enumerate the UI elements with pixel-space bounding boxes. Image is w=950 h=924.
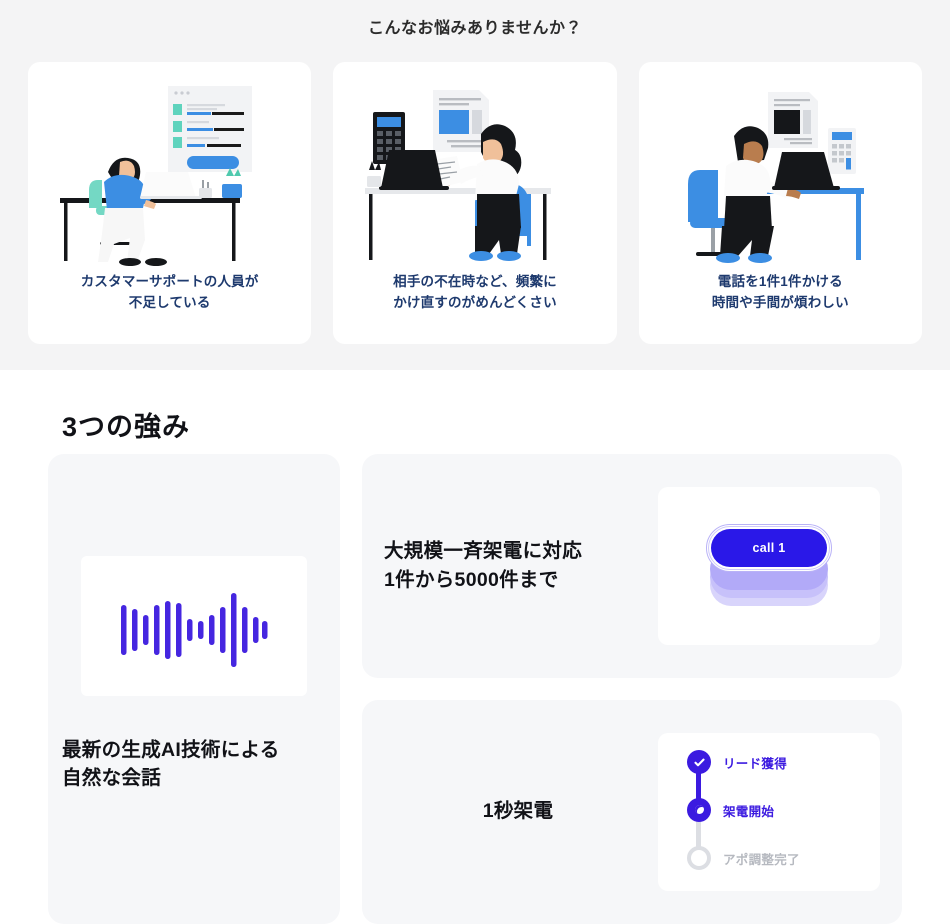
strength-caption-line1: 最新の生成AI技術による: [62, 739, 280, 761]
worry-card-caption: 電話を1件1件かける 時間や手間が煩わしい: [712, 272, 849, 314]
strength-caption-line2: 自然な会話: [62, 767, 161, 789]
check-circle-icon: [687, 750, 711, 774]
worry-card-caption: 相手の不在時など、頻繁に かけ直すのがめんどくさい: [393, 272, 557, 314]
strength-card-text: 1秒架電: [384, 797, 658, 826]
worry-caption-line2: かけ直すのがめんどくさい: [393, 295, 557, 310]
worry-caption-line2: 不足している: [129, 295, 211, 310]
waveform-visual-box: [81, 556, 307, 696]
active-dot-icon: [687, 798, 711, 822]
strength-card-ai-conversation[interactable]: 最新の生成AI技術による 自然な会話: [48, 454, 340, 924]
worry-card[interactable]: 相手の不在時など、頻繁に かけ直すのがめんどくさい: [333, 62, 616, 344]
strength-card-text: 大規模一斉架電に対応 1件から5000件まで: [384, 537, 658, 596]
man-at-blue-desk-with-laptop-icon: [656, 76, 904, 266]
empty-circle-icon: [687, 846, 711, 870]
worry-caption-line1: 相手の不在時など、頻繁に: [393, 274, 557, 289]
woman-at-desk-with-chat-panel-icon: [46, 76, 294, 266]
timeline-step-appointment-scheduled[interactable]: アポ調整完了: [687, 846, 853, 870]
worries-heading: こんなお悩みありませんか？: [0, 18, 950, 48]
audio-waveform-icon: [119, 581, 269, 671]
woman-in-blue-armchair-with-documents-icon: [351, 76, 599, 266]
call-button[interactable]: call 1: [711, 529, 827, 567]
timeline-step-label: 架電開始: [723, 801, 774, 820]
strengths-right-column: 大規模一斉架電に対応 1件から5000件まで call 1: [362, 454, 902, 924]
timeline-step-lead-acquired[interactable]: リード獲得: [687, 750, 853, 774]
timeline-step-label: アポ調整完了: [723, 849, 800, 868]
worries-card-list: カスタマーサポートの人員が 不足している: [0, 48, 950, 344]
worry-caption-line1: 電話を1件1件かける: [718, 274, 843, 289]
strength-card-one-second-dialing[interactable]: 1秒架電 リード獲得: [362, 700, 902, 924]
worry-caption-line1: カスタマーサポートの人員が: [81, 274, 259, 289]
call-button-stack-graphic: call 1: [706, 524, 832, 608]
worry-caption-line2: 時間や手間が煩わしい: [712, 295, 849, 310]
worry-card[interactable]: 電話を1件1件かける 時間や手間が煩わしい: [639, 62, 922, 344]
call-button-visual-box: call 1: [658, 487, 880, 645]
worry-card[interactable]: カスタマーサポートの人員が 不足している: [28, 62, 311, 344]
timeline-visual-box: リード獲得 架電開始 アポ調整完了: [658, 733, 880, 891]
worries-section: こんなお悩みありませんか？: [0, 0, 950, 370]
strength-text-line1: 大規模一斉架電に対応: [384, 540, 582, 562]
strength-text-line2: 1件から5000件まで: [384, 569, 559, 591]
strengths-section: 3つの強み: [0, 370, 950, 924]
worry-card-caption: カスタマーサポートの人員が 不足している: [81, 272, 259, 314]
timeline-step-label: リード獲得: [723, 753, 787, 772]
strengths-heading: 3つの強み: [48, 370, 902, 454]
timeline-step-calling-started[interactable]: 架電開始: [687, 798, 853, 822]
strength-card-mass-calling[interactable]: 大規模一斉架電に対応 1件から5000件まで call 1: [362, 454, 902, 678]
strengths-grid: 最新の生成AI技術による 自然な会話 大規模一斉架電に対応 1件から5000件ま…: [48, 454, 902, 924]
check-icon: [693, 756, 706, 769]
strength-text-line1: 1秒架電: [483, 800, 554, 822]
strength-card-caption: 最新の生成AI技術による 自然な会話: [62, 736, 280, 793]
progress-timeline-graphic: リード獲得 架電開始 アポ調整完了: [685, 750, 853, 874]
